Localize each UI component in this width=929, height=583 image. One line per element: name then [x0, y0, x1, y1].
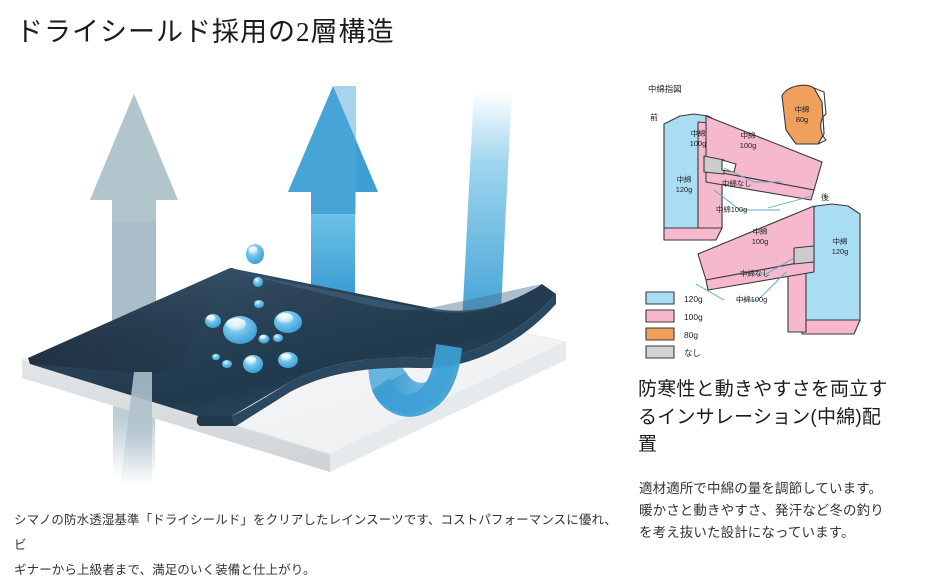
- front-100-label: 中綿100g: [716, 205, 747, 214]
- insulation-diagram-panel: .ol{stroke:#3a3a3a;stroke-width:1.1;stro…: [636, 78, 924, 368]
- hood-part: 中綿 80g: [782, 85, 826, 144]
- right-body-line-3: を考え抜いた設計になっています。: [639, 525, 855, 540]
- right-heading-line-1: 防寒性と動きやすさを両立す: [638, 379, 888, 400]
- legend-label-100g: 100g: [684, 312, 703, 322]
- back-none-label: 中綿なし: [740, 269, 770, 278]
- caption-line-2: ギナーから上級者まで、満足のいく装備と仕上がり。: [14, 563, 316, 577]
- left-caption: シマノの防水透湿基準「ドライシールド」をクリアしたレインスーツです、コストパフォ…: [14, 508, 618, 583]
- back-body-label-l2: 120g: [832, 247, 848, 256]
- back-sleeve-label-l1: 中綿: [753, 227, 768, 236]
- insulation-diagram-title: 中綿指図: [648, 84, 682, 94]
- right-heading: 防寒性と動きやすさを両立す るインサレーション(中綿)配 置: [638, 376, 928, 459]
- hood-label-l1: 中綿: [795, 105, 810, 114]
- legend-label-80g: 80g: [684, 330, 698, 340]
- back-view-label: 後: [821, 192, 829, 202]
- back-body-label-l1: 中綿: [833, 237, 848, 246]
- front-sleeve-label-l2: 100g: [690, 139, 706, 148]
- legend-label-120g: 120g: [684, 294, 703, 304]
- back-100-label: 中綿100g: [736, 295, 767, 304]
- insulation-diagram: .ol{stroke:#3a3a3a;stroke-width:1.1;stro…: [636, 78, 924, 368]
- front-view-label: 前: [650, 112, 658, 122]
- front-body-label-l2: 120g: [676, 185, 692, 194]
- front-sleeve-weight-l2: 100g: [740, 141, 756, 150]
- front-body-label-l1: 中綿: [677, 175, 692, 184]
- two-layer-illustration: [0, 72, 620, 492]
- hood-label-l2: 80g: [796, 115, 808, 124]
- page-root: ドライシールド採用の2層構造: [0, 0, 929, 577]
- front-none-label: 中綿なし: [722, 179, 752, 188]
- front-sleeve-weight-l1: 中綿: [741, 131, 756, 140]
- right-body-text: 適材適所で中綿の量を調節しています。 暖かさと動きやすさ、発汗など冬の釣り を考…: [639, 478, 929, 544]
- right-heading-line-2: るインサレーション(中綿)配: [638, 407, 881, 428]
- right-body-line-2: 暖かさと動きやすさ、発汗など冬の釣り: [639, 503, 884, 518]
- right-body-line-1: 適材適所で中綿の量を調節しています。: [639, 481, 882, 496]
- back-sleeve-label-l2: 100g: [752, 237, 768, 246]
- insulation-legend: 120g 100g 80g なし: [646, 292, 703, 358]
- front-sleeve-label-l1: 中綿: [691, 129, 706, 138]
- caption-line-1: シマノの防水透湿基準「ドライシールド」をクリアしたレインスーツです、コストパフォ…: [14, 513, 617, 552]
- right-heading-line-3: 置: [638, 434, 657, 455]
- page-title: ドライシールド採用の2層構造: [16, 10, 395, 49]
- legend-label-none: なし: [684, 348, 701, 358]
